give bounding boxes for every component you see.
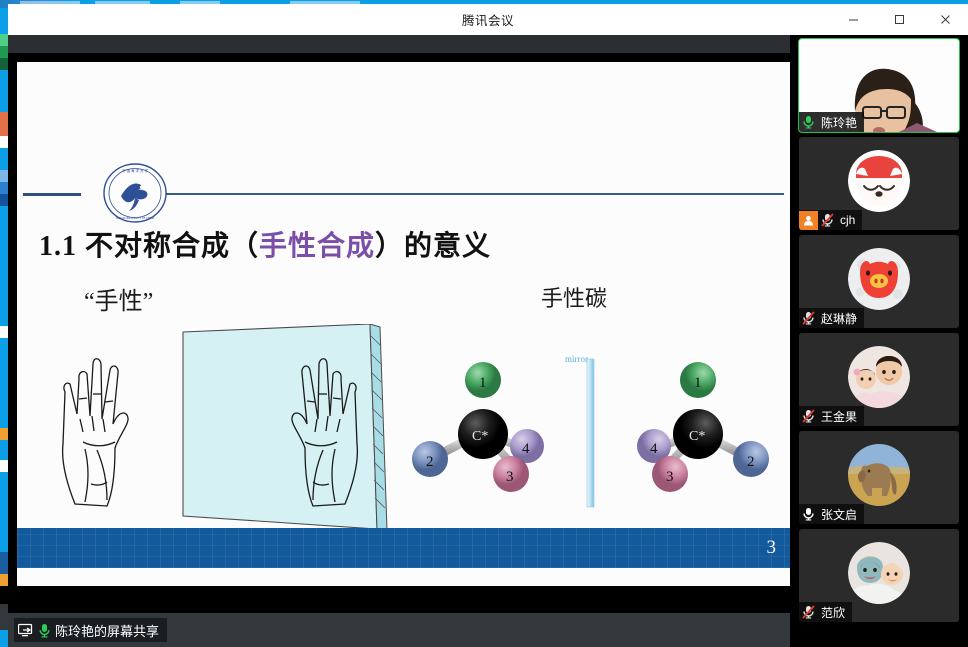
screen-share-indicator[interactable]: 陈玲艳的屏幕共享 [14,618,167,642]
label-chiral-carbon: 手性碳 [541,281,607,313]
maximize-icon [894,14,905,25]
participant-tile[interactable]: 张文启 [799,431,959,524]
participant-tile[interactable]: 陈玲艳 [799,39,959,132]
children-photo-avatar [848,346,910,408]
shared-screen-taskbar: 陈玲艳的屏幕共享 [8,613,790,647]
avatar [848,542,910,604]
microphone-icon [799,507,818,521]
atom-label-center: C* [689,429,705,444]
participant-tile[interactable]: 赵琳静 [799,235,959,328]
stage-top-letterbox [8,35,790,53]
avatar [848,150,910,212]
atom-label-2: 2 [747,454,755,470]
enantiomer-molecules-diagram: 2 1 4 3 C* [403,337,783,517]
subtitle-chirality: “手性” [84,281,153,316]
participant-name: 张文启 [821,506,857,523]
avatar [848,248,910,310]
participant-name: 范欣 [821,604,845,621]
host-badge-icon [799,211,818,230]
window-title: 腾讯会议 [462,10,514,29]
stage-black-bar [8,53,790,62]
maximize-button[interactable] [876,4,922,35]
slide-page-number: 3 [767,537,777,559]
participant-name-bar: 张文启 [799,504,864,524]
header-rule-left [23,193,81,196]
mirror-line [587,359,594,507]
meeting-window: 腾讯会议 [8,4,968,647]
fox-avatar-icon [848,150,910,212]
screen-share-icon [18,623,34,637]
atom-label-1: 1 [694,375,702,391]
microphone-muted-icon [799,311,818,325]
participant-name: cjh [840,213,855,227]
participant-tile[interactable]: 范欣 [799,529,959,622]
participant-name: 赵琳静 [821,310,857,327]
svg-text:中 国 海 洋 大 学: 中 国 海 洋 大 学 [122,168,148,173]
slide-footer-bar: 3 [17,528,790,568]
title-suffix: ）的意义 [375,231,491,262]
elephant-photo-avatar [848,444,910,506]
window-controls [830,4,968,35]
participant-name-bar: cjh [799,210,862,230]
participant-name-bar: 王金果 [799,406,864,426]
atom-label-1: 1 [479,375,487,391]
atom-label-center: C* [472,429,488,444]
presentation-slide: 中 国 海 洋 大 学 OCEAN UNIVERSITY OF CHINA 1.… [17,62,790,586]
avatar [848,346,910,408]
atom-label-4: 4 [522,441,530,457]
shared-screen-stage: 中 国 海 洋 大 学 OCEAN UNIVERSITY OF CHINA 1.… [8,35,790,647]
university-logo: 中 国 海 洋 大 学 OCEAN UNIVERSITY OF CHINA [101,162,169,224]
minimize-button[interactable] [830,4,876,35]
participant-name-bar: 赵琳静 [799,308,864,328]
header-rule [159,193,784,195]
participant-name-bar: 范欣 [799,602,852,622]
screen-share-label: 陈玲艳的屏幕共享 [55,621,159,640]
window-title-bar: 腾讯会议 [8,4,968,35]
pig-avatar-icon [848,248,910,310]
participant-tile[interactable]: 王金果 [799,333,959,426]
page-title: 1.1 不对称合成（手性合成）的意义 [39,224,759,264]
microphone-muted-icon [818,213,837,227]
atom-label-4: 4 [650,441,658,457]
atom-label-3: 3 [666,469,674,485]
atom-label-2: 2 [426,454,434,470]
stage-bottom-letterbox [8,586,790,613]
participant-name-bar: 陈玲艳 [799,112,864,132]
microphone-muted-icon [799,409,818,423]
window-content: 中 国 海 洋 大 学 OCEAN UNIVERSITY OF CHINA 1.… [8,35,968,647]
close-icon [940,14,951,25]
mother-child-photo-avatar [848,542,910,604]
avatar [848,444,910,506]
microphone-icon [38,623,51,638]
footer-pattern [17,528,790,568]
close-button[interactable] [922,4,968,35]
microphone-muted-icon [799,605,818,619]
title-accent: 手性合成 [259,231,375,262]
minimize-icon [848,14,859,25]
participant-name: 王金果 [821,408,857,425]
participant-tile[interactable]: cjh [799,137,959,230]
microphone-icon [799,115,818,129]
left-hand-drawing [63,359,128,506]
molecule-left: 2 1 4 3 C* [412,362,544,492]
atom-label-3: 3 [506,469,514,485]
participant-panel[interactable]: 陈玲艳 [790,35,968,647]
molecule-right [637,362,769,492]
svg-text:OCEAN UNIVERSITY OF CHINA: OCEAN UNIVERSITY OF CHINA [116,216,155,220]
participant-name: 陈玲艳 [821,114,857,131]
title-prefix: 1.1 不对称合成（ [39,231,259,262]
